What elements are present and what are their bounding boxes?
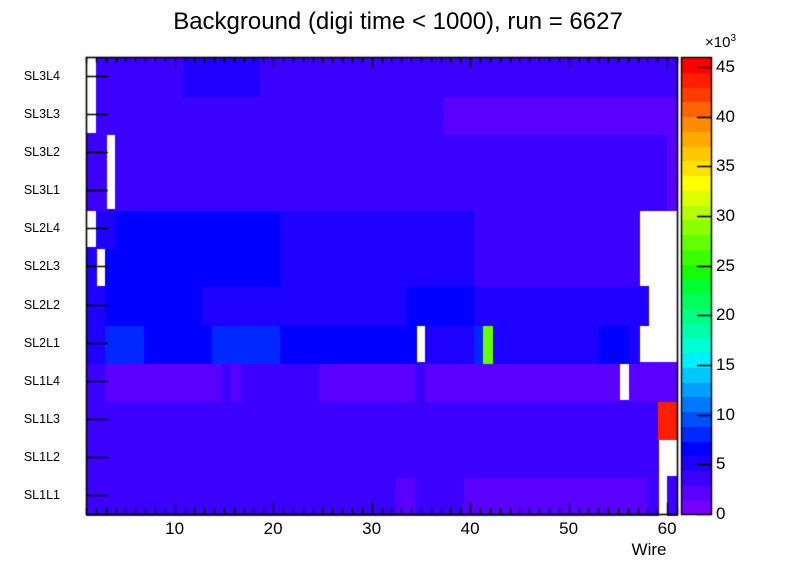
root-plot-container: Background (digi time < 1000), run = 662… <box>0 0 796 572</box>
heatmap-canvas[interactable] <box>0 0 796 572</box>
